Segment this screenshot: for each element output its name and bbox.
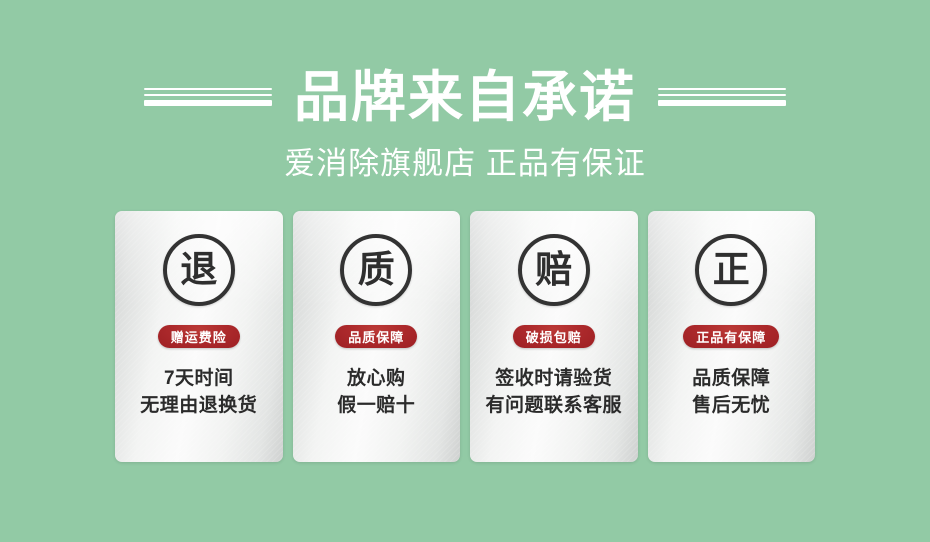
status-badge: 品质保障 xyxy=(335,325,417,348)
guarantee-card-authentic: 正 正品有保障 品质保障 售后无忧 xyxy=(648,211,816,462)
card-description: 品质保障 售后无忧 xyxy=(692,366,770,420)
status-badge: 赠运费险 xyxy=(158,325,240,348)
desc-line-1: 签收时请验货 xyxy=(485,366,622,393)
card-content: 退 赠运费险 7天时间 无理由退换货 xyxy=(115,211,283,462)
flourish-line xyxy=(144,88,272,90)
card-content: 赔 破损包赔 签收时请验货 有问题联系客服 xyxy=(470,211,638,462)
icon-character: 正 xyxy=(713,251,750,288)
card-description: 放心购 假一赔十 xyxy=(337,366,415,420)
guarantee-card-compensation: 赔 破损包赔 签收时请验货 有问题联系客服 xyxy=(470,211,638,462)
desc-line-1: 7天时间 xyxy=(140,366,257,393)
flourish-line xyxy=(658,94,786,96)
desc-line-2: 售后无忧 xyxy=(692,393,770,420)
flourish-left-icon xyxy=(144,88,272,106)
icon-character: 赔 xyxy=(535,251,572,288)
title-row: 品牌来自承诺 xyxy=(144,62,786,132)
desc-line-1: 品质保障 xyxy=(692,366,770,393)
authentic-circle-icon: 正 xyxy=(695,234,767,306)
icon-character: 质 xyxy=(358,251,395,288)
flourish-right-icon xyxy=(658,88,786,106)
card-description: 签收时请验货 有问题联系客服 xyxy=(485,366,622,420)
return-circle-icon: 退 xyxy=(163,234,235,306)
status-badge: 正品有保障 xyxy=(683,325,779,348)
flourish-line xyxy=(144,94,272,96)
promo-banner: 品牌来自承诺 爱消除旗舰店 正品有保证 退 赠运费险 7天时间 无理由退换货 xyxy=(0,0,930,542)
quality-circle-icon: 质 xyxy=(340,234,412,306)
icon-character: 退 xyxy=(180,251,217,288)
desc-line-2: 假一赔十 xyxy=(337,393,415,420)
desc-line-1: 放心购 xyxy=(337,366,415,393)
page-subtitle: 爱消除旗舰店 正品有保证 xyxy=(284,148,646,179)
compensation-circle-icon: 赔 xyxy=(518,234,590,306)
card-content: 质 品质保障 放心购 假一赔十 xyxy=(293,211,461,462)
guarantee-card-list: 退 赠运费险 7天时间 无理由退换货 质 品质保障 放心购 假一赔十 xyxy=(115,211,815,462)
desc-line-2: 无理由退换货 xyxy=(140,393,257,420)
card-description: 7天时间 无理由退换货 xyxy=(140,366,257,420)
banner-header: 品牌来自承诺 爱消除旗舰店 正品有保证 xyxy=(0,62,930,179)
flourish-line xyxy=(144,100,272,106)
flourish-line xyxy=(658,88,786,90)
page-title: 品牌来自承诺 xyxy=(294,70,636,125)
flourish-line xyxy=(658,100,786,106)
desc-line-2: 有问题联系客服 xyxy=(485,393,622,420)
guarantee-card-return: 退 赠运费险 7天时间 无理由退换货 xyxy=(115,211,283,462)
guarantee-card-quality: 质 品质保障 放心购 假一赔十 xyxy=(293,211,461,462)
status-badge: 破损包赔 xyxy=(513,325,595,348)
card-content: 正 正品有保障 品质保障 售后无忧 xyxy=(648,211,816,462)
